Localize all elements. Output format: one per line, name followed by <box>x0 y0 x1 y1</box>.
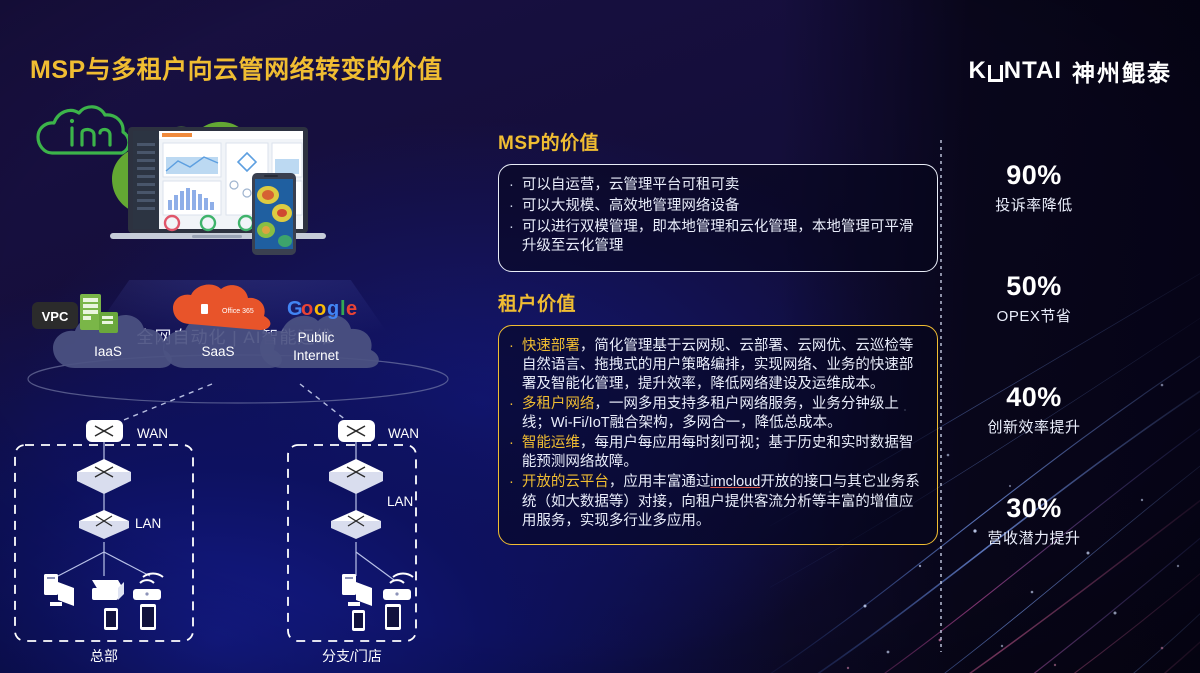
logo-latin-text: KNTAI <box>968 57 1062 85</box>
stat-label: 投诉率降低 <box>950 194 1118 215</box>
stat-value: 90% <box>950 160 1118 191</box>
list-item: · 开放的云平台，应用丰富通过imcloud开放的接口与其它业务系统（如大数据等… <box>509 473 923 530</box>
site-branch: WAN LAN <box>288 420 419 664</box>
vertical-dotted-divider <box>940 140 942 652</box>
bullet-marker-icon: · <box>509 197 514 216</box>
svg-text:o: o <box>314 298 326 320</box>
svg-text:e: e <box>346 298 357 320</box>
bullet-marker-icon: · <box>509 218 514 256</box>
svg-text:Office 365: Office 365 <box>222 308 254 315</box>
hq-printer-icon <box>92 580 124 600</box>
msp-bullet-text: 可以大规模、高效地管理网络设备 <box>522 197 923 216</box>
hq-wan-label: WAN <box>137 426 168 441</box>
tenant-bullet-highlight: 快速部署 <box>522 338 580 354</box>
branch-links <box>356 440 394 580</box>
bullet-marker-icon: · <box>509 473 514 530</box>
server-badge-icon <box>80 294 118 333</box>
branch-core-switch-icon <box>329 459 383 494</box>
imcloud-link[interactable]: imcloud <box>710 474 760 490</box>
stat-item: 40% 创新效率提升 <box>950 382 1118 437</box>
hq-lan-label: LAN <box>135 516 161 531</box>
page-title: MSP与多租户向云管网络转变的价值 <box>30 50 443 86</box>
hq-site-label: 总部 <box>90 648 118 664</box>
svg-text:Internet: Internet <box>293 348 339 363</box>
brand-logo: KNTAI 神州鲲泰 <box>968 54 1172 88</box>
tenant-bullet-body: ，每用户每应用每时刻可视；基于历史和实时数据智能预测网络故障。 <box>522 435 914 470</box>
tenant-bullet-list: · 快速部署，简化管理基于云网规、云部署、云网优、云巡检等自然语言、拖拽式的用户… <box>509 337 923 531</box>
branch-site-label: 分支/门店 <box>322 648 382 664</box>
tenant-bullet-text: 多租户网络，一网多用支持多租户网络服务，业务分钟级上线；Wi-Fi/IoT融合架… <box>522 395 923 433</box>
network-topology-diagram: VPC IaaS Office 365 SaaS <box>0 280 470 665</box>
bullet-marker-icon: · <box>509 176 514 195</box>
stat-item: 30% 营收潜力提升 <box>950 493 1118 548</box>
tenant-bullet-highlight: 智能运维 <box>522 435 580 451</box>
bullet-marker-icon: · <box>509 337 514 394</box>
svg-text:o: o <box>301 298 313 320</box>
cloud-label-public: Public <box>298 330 335 345</box>
bullet-marker-icon: · <box>509 395 514 433</box>
site-headquarters: WAN LAN <box>15 420 193 664</box>
stats-column: 90% 投诉率降低 50% OPEX节省 40% 创新效率提升 30% 营收潜力… <box>950 160 1118 604</box>
hq-wan-router-icon <box>86 420 123 442</box>
branch-lan-label: LAN <box>387 494 413 509</box>
msp-bullet-list: · 可以自运营，云管理平台可租可卖 · 可以大规模、高效地管理网络设备 · 可以… <box>509 176 923 257</box>
list-item: · 多租户网络，一网多用支持多租户网络服务，业务分钟级上线；Wi-Fi/IoT融… <box>509 395 923 433</box>
branch-workstation-icon <box>342 574 372 606</box>
hero-graphic <box>0 95 470 270</box>
stat-label: OPEX节省 <box>950 305 1118 326</box>
list-item: · 智能运维，每用户每应用每时刻可视；基于历史和实时数据智能预测网络故障。 <box>509 434 923 472</box>
tenant-bullet-text: 开放的云平台，应用丰富通过imcloud开放的接口与其它业务系统（如大数据等）对… <box>522 473 923 530</box>
left-illustration-panel: 全网自动化 | AI智能运维 VPC <box>0 95 470 665</box>
google-badge-icon: Go og le <box>287 298 357 320</box>
svg-text:l: l <box>340 298 346 320</box>
stat-item: 90% 投诉率降低 <box>950 160 1118 215</box>
tenant-bullet-body-before: ，应用丰富通过 <box>609 474 711 490</box>
branch-wifi-ap-icon <box>383 573 413 600</box>
msp-value-card: · 可以自运营，云管理平台可租可卖 · 可以大规模、高效地管理网络设备 · 可以… <box>498 164 938 272</box>
cloud-label-saas: SaaS <box>201 344 234 359</box>
list-item: · 快速部署，简化管理基于云网规、云部署、云网优、云巡检等自然语言、拖拽式的用户… <box>509 337 923 394</box>
tenant-bullet-body: ，简化管理基于云网规、云部署、云网优、云巡检等自然语言、拖拽式的用户策略编排，实… <box>522 338 914 392</box>
branch-access-switch-icon <box>331 510 381 539</box>
list-item: · 可以进行双模管理，即本地管理和云化管理，本地管理可平滑升级至云化管理 <box>509 218 923 256</box>
hq-wifi-ap-icon <box>133 573 163 600</box>
msp-bullet-text: 可以进行双模管理，即本地管理和云化管理，本地管理可平滑升级至云化管理 <box>522 218 923 256</box>
branch-wan-router-icon <box>338 420 375 442</box>
tenant-value-card: · 快速部署，简化管理基于云网规、云部署、云网优、云巡检等自然语言、拖拽式的用户… <box>498 325 938 545</box>
tenant-section-heading: 租户价值 <box>498 289 938 316</box>
tenant-bullet-highlight: 多租户网络 <box>522 396 595 412</box>
bullet-marker-icon: · <box>509 434 514 472</box>
hq-access-switch-icon <box>79 510 129 539</box>
hq-core-switch-icon <box>77 459 131 494</box>
tenant-bullet-text: 快速部署，简化管理基于云网规、云部署、云网优、云巡检等自然语言、拖拽式的用户策略… <box>522 337 923 394</box>
svg-text:g: g <box>327 298 339 320</box>
imcloud-logo-icon <box>38 107 129 153</box>
cloud-to-wan-links <box>104 384 356 428</box>
value-content-column: MSP的价值 · 可以自运营，云管理平台可租可卖 · 可以大规模、高效地管理网络… <box>498 128 938 545</box>
msp-bullet-text: 可以自运营，云管理平台可租可卖 <box>522 176 923 195</box>
tenant-bullet-text: 智能运维，每用户每应用每时刻可视；基于历史和实时数据智能预测网络故障。 <box>522 434 923 472</box>
stat-label: 营收潜力提升 <box>950 527 1118 548</box>
list-item: · 可以大规模、高效地管理网络设备 <box>509 197 923 216</box>
stat-label: 创新效率提升 <box>950 416 1118 437</box>
stat-value: 40% <box>950 382 1118 413</box>
svg-text:VPC: VPC <box>42 309 69 324</box>
logo-chinese-text: 神州鲲泰 <box>1072 54 1172 88</box>
stat-item: 50% OPEX节省 <box>950 271 1118 326</box>
stat-value: 30% <box>950 493 1118 524</box>
branch-wan-label: WAN <box>388 426 419 441</box>
hq-workstation-icon <box>44 574 74 606</box>
msp-section-heading: MSP的价值 <box>498 128 938 155</box>
stat-value: 50% <box>950 271 1118 302</box>
list-item: · 可以自运营，云管理平台可租可卖 <box>509 176 923 195</box>
tenant-bullet-highlight: 开放的云平台 <box>522 474 609 490</box>
cloud-label-iaas: IaaS <box>94 344 122 359</box>
logo-mark-icon <box>988 65 1003 82</box>
phone-device <box>252 173 296 255</box>
